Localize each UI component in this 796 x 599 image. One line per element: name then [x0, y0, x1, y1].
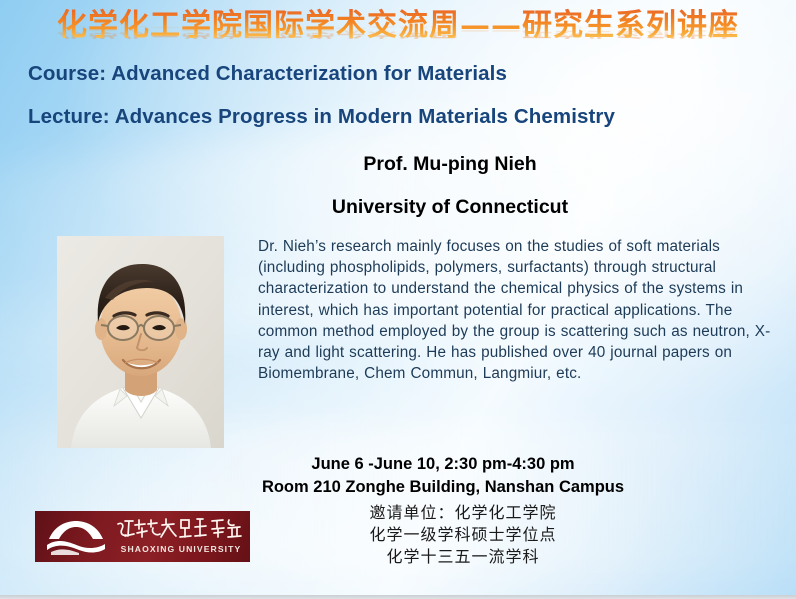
logo-english-name: SHAOXING UNIVERSITY — [113, 544, 249, 554]
speaker-name: Prof. Mu-ping Nieh — [240, 153, 660, 176]
lecture-poster: 化学化工学院国际学术交流周——研究生系列讲座 化学化工学院国际学术交流周——研究… — [0, 0, 796, 599]
schedule-time: June 6 -June 10, 2:30 pm-4:30 pm — [228, 455, 658, 474]
slide-bottom-edge — [0, 595, 796, 599]
arch-and-waves-icon — [45, 519, 107, 555]
logo-chinese-calligraphy — [115, 516, 245, 543]
organizer-line-2: 化学一级学科硕士学位点 — [248, 524, 678, 545]
portrait-illustration — [57, 236, 224, 448]
speaker-bio: Dr. Nieh’s research mainly focuses on th… — [258, 236, 782, 384]
speaker-portrait — [57, 236, 224, 448]
speaker-affiliation: University of Connecticut — [240, 196, 660, 219]
organizer-line-3: 化学十三五一流学科 — [248, 546, 678, 567]
banner-title: 化学化工学院国际学术交流周——研究生系列讲座 — [0, 6, 796, 46]
lecture-line: Lecture: Advances Progress in Modern Mat… — [28, 105, 615, 129]
organizer-line-1: 邀请单位：化学化工学院 — [248, 502, 678, 523]
schedule-location: Room 210 Zonghe Building, Nanshan Campus — [228, 478, 658, 497]
course-line: Course: Advanced Characterization for Ma… — [28, 62, 507, 86]
university-logo: SHAOXING UNIVERSITY — [35, 511, 250, 562]
